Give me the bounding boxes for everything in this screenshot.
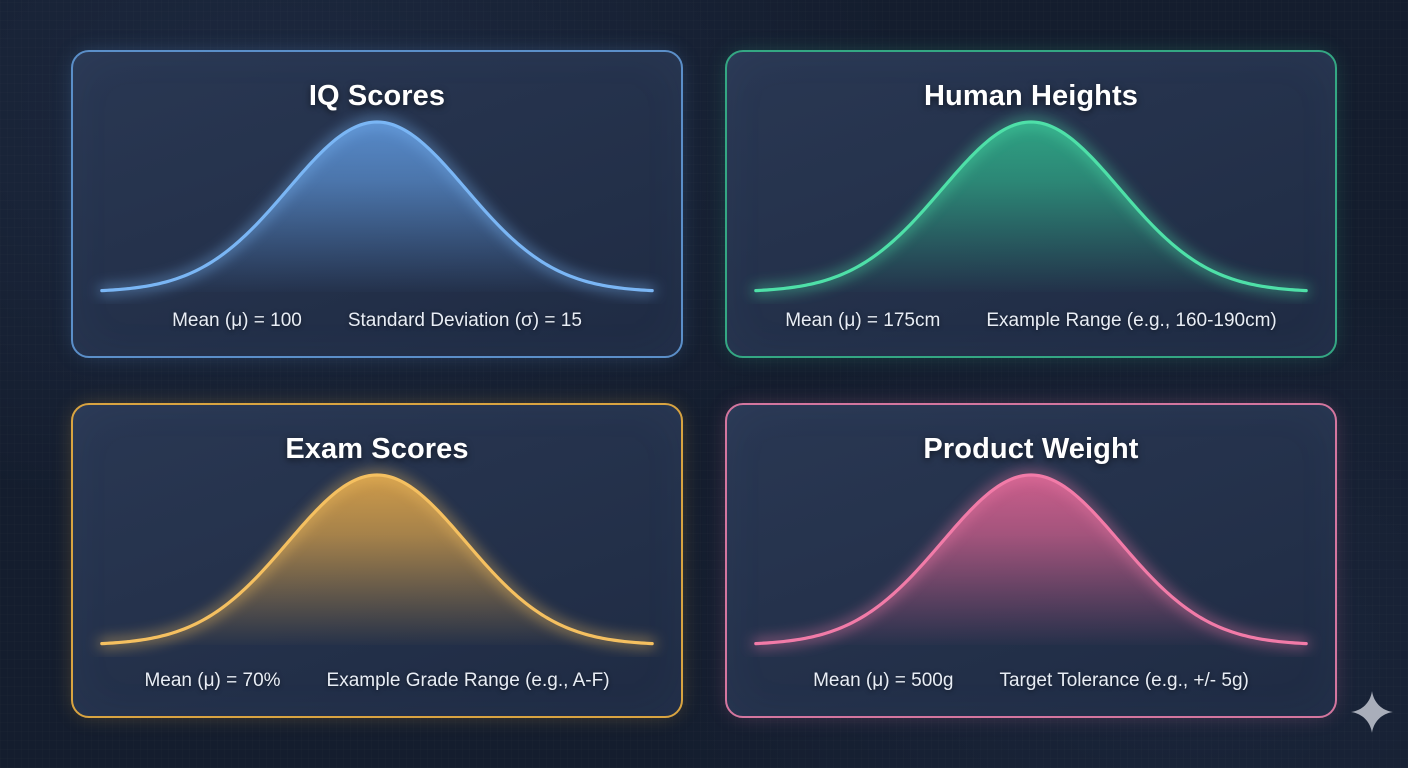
bell-curve-chart [727,457,1335,657]
card-exam-scores[interactable]: Exam Scores Mean (μ) = 70% Example Grade… [71,403,683,718]
sparkle-icon [1350,690,1394,734]
caption-spread: Target Tolerance (e.g., +/- 5g) [999,670,1248,692]
caption-mean: Mean (μ) = 175cm [785,310,940,332]
caption-row: Mean (μ) = 70% Example Grade Range (e.g.… [73,670,681,692]
caption-row: Mean (μ) = 175cm Example Range (e.g., 16… [727,310,1335,332]
caption-spread: Example Grade Range (e.g., A-F) [327,670,610,692]
bell-curve-chart [727,104,1335,304]
caption-row: Mean (μ) = 100 Standard Deviation (σ) = … [73,310,681,332]
caption-spread: Example Range (e.g., 160-190cm) [986,310,1276,332]
bell-curve-chart [73,104,681,304]
curve-fill [756,122,1306,292]
bell-curve-chart [73,457,681,657]
curve-fill [102,475,652,645]
caption-row: Mean (μ) = 500g Target Tolerance (e.g., … [727,670,1335,692]
card-human-heights[interactable]: Human Heights Mean (μ) = 175cm Example R… [725,50,1337,358]
caption-mean: Mean (μ) = 70% [144,670,280,692]
curve-fill [102,122,652,292]
caption-mean: Mean (μ) = 500g [813,670,953,692]
caption-mean: Mean (μ) = 100 [172,310,302,332]
caption-spread: Standard Deviation (σ) = 15 [348,310,582,332]
card-product-weight[interactable]: Product Weight Mean (μ) = 500g Target To… [725,403,1337,718]
curve-fill [756,475,1306,645]
distribution-card-grid: IQ Scores Mean (μ) = 100 Standard Deviat… [71,50,1337,718]
card-iq-scores[interactable]: IQ Scores Mean (μ) = 100 Standard Deviat… [71,50,683,358]
